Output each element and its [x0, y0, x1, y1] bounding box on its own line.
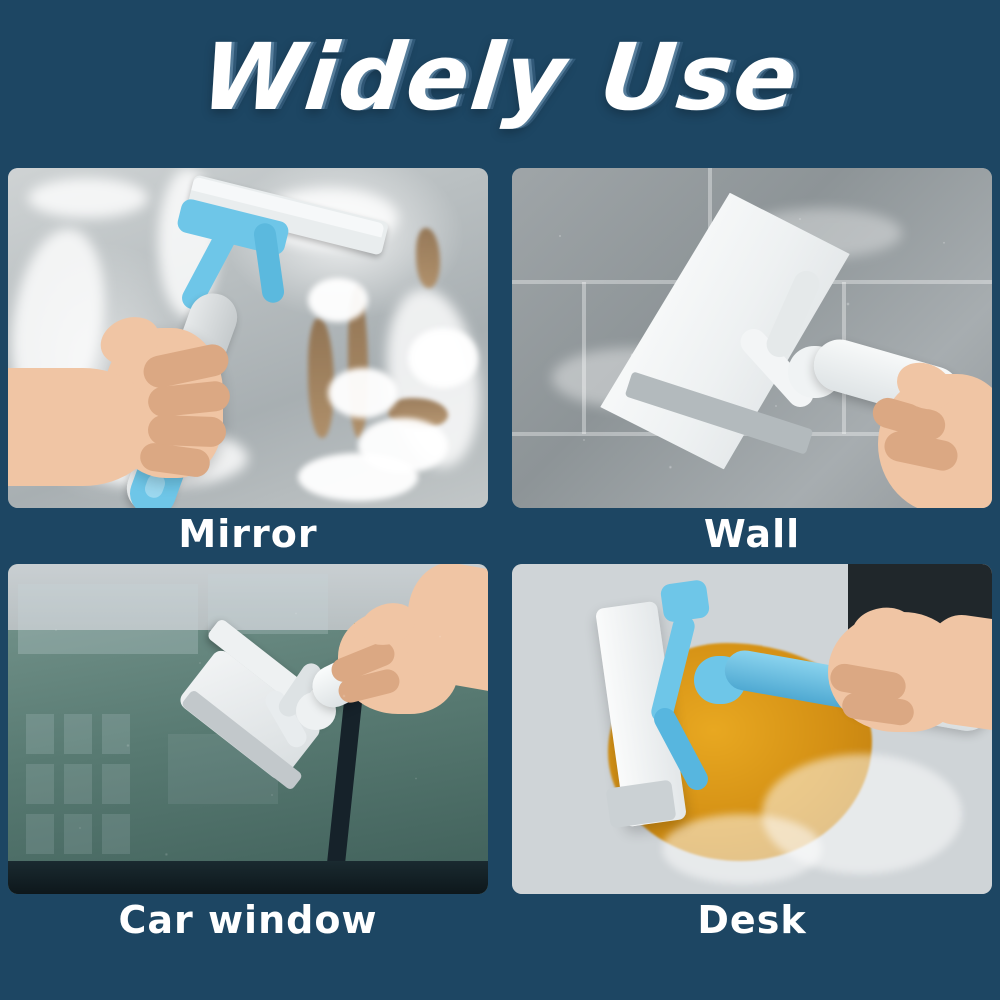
- panel-grid: Mirror: [8, 168, 992, 944]
- foam-blob: [298, 453, 418, 501]
- panel-wall: Wall: [512, 168, 992, 558]
- finger: [148, 415, 227, 448]
- photo-car-window: [8, 564, 488, 894]
- hand-forearm: [8, 368, 158, 486]
- caption-wall: Wall: [512, 508, 992, 558]
- photo-desk: [512, 564, 992, 894]
- panel-mirror: Mirror: [8, 168, 488, 558]
- caption-car-window: Car window: [8, 894, 488, 944]
- foam-blob: [328, 368, 398, 418]
- caption-desk: Desk: [512, 894, 992, 944]
- photo-wall: [512, 168, 992, 508]
- foam-blob: [308, 278, 368, 322]
- panel-car-window: Car window: [8, 564, 488, 944]
- page-title: Widely Use: [197, 32, 803, 124]
- soap-streak: [28, 178, 148, 218]
- photo-mirror: [8, 168, 488, 508]
- foam-blob: [408, 328, 478, 388]
- widely-use-infographic: Widely Use: [0, 0, 1000, 1000]
- caption-mirror: Mirror: [8, 508, 488, 558]
- water-droplets: [8, 564, 488, 894]
- title-banner: Widely Use: [0, 0, 1000, 155]
- panel-desk: Desk: [512, 564, 992, 944]
- wet-sheen: [662, 814, 822, 884]
